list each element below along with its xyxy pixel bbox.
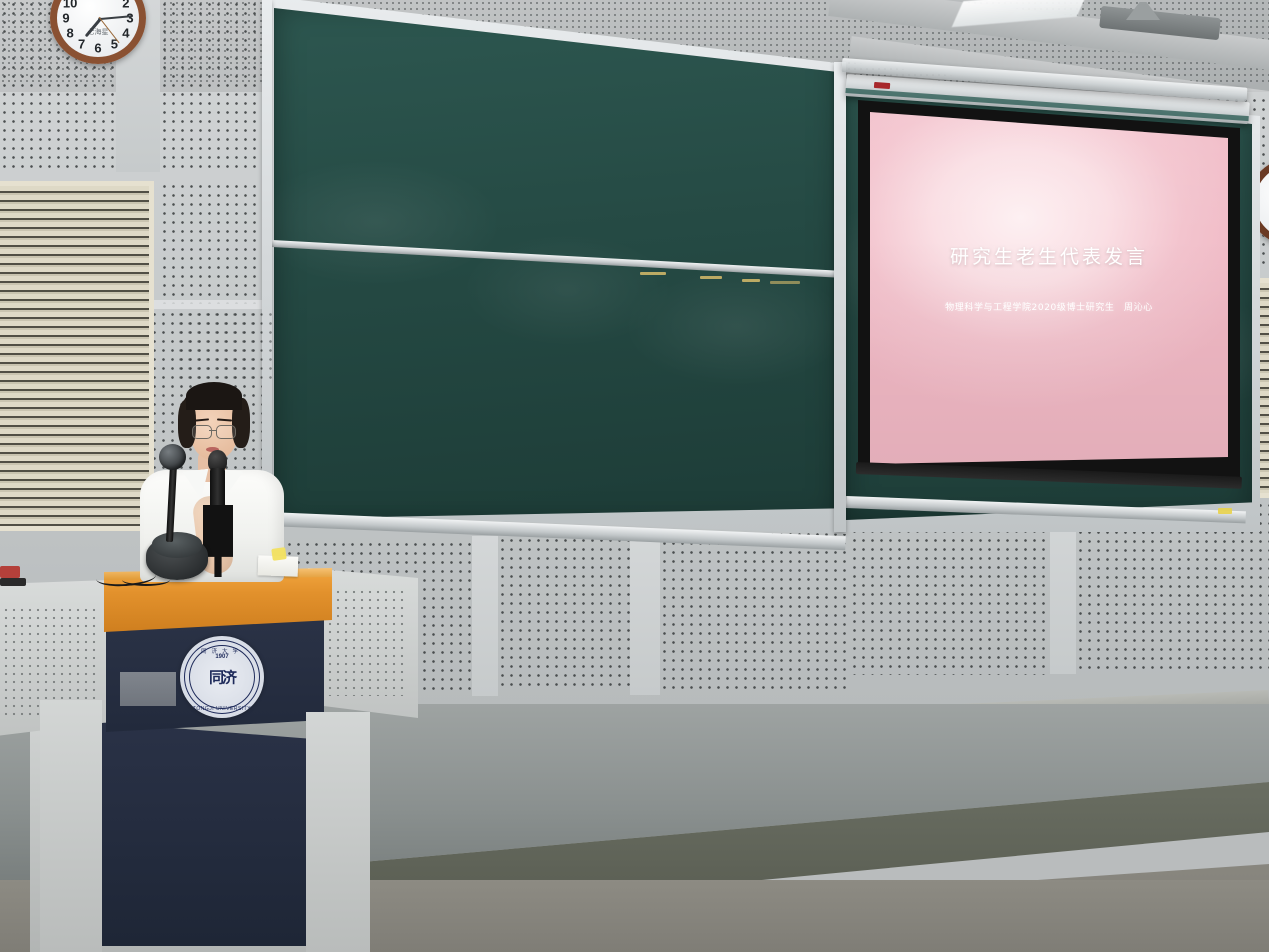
screen-vignette	[870, 112, 1228, 464]
podium-left-column	[40, 700, 102, 952]
speaker-hair-top	[186, 382, 242, 410]
speaker-glasses-left-lens	[192, 425, 212, 439]
podium-right-column	[306, 712, 370, 952]
conference-mic-base-top	[152, 532, 202, 558]
tongji-university-emblem: 同济大学 1907 同济 TONGJI UNIVERSITY	[180, 636, 264, 718]
cable-connector-black	[0, 578, 26, 586]
chalk-piece-b	[700, 276, 722, 279]
podium-equipment-box	[120, 672, 176, 706]
cable-connector-red	[0, 566, 20, 578]
wall-vent-left	[0, 181, 154, 531]
slide-title: 研究生老生代表发言	[870, 242, 1228, 269]
emblem-english-text: TONGJI UNIVERSITY	[193, 706, 251, 712]
wall-perf-lower-c	[660, 530, 850, 690]
speaker-glasses-bridge	[209, 430, 217, 431]
slide-subtitle: 物理科学与工程学院2020级博士研究生 周沁心	[870, 300, 1228, 313]
podium-sticky-note	[271, 547, 287, 561]
wall-blank-lower-b	[630, 533, 660, 695]
lecture-hall-photo: 12 1 2 3 4 5 6 7 8 9 10 11 七海星	[0, 0, 1269, 952]
sticky-marker-rail	[1218, 508, 1232, 514]
wall-vent-left-slats	[0, 186, 149, 526]
blackboard-surface-main	[274, 4, 838, 524]
wall-perf-behind-speaker	[176, 310, 272, 384]
blackboard-left-post	[262, 0, 272, 526]
chalk-piece-d	[770, 281, 800, 284]
wall-perf-left-b	[160, 0, 272, 172]
wall-blank-lower-a	[472, 536, 498, 696]
conference-mic-capsule	[159, 444, 186, 470]
emblem-chinese-monogram: 同济	[209, 667, 235, 688]
chalk-piece-c	[742, 279, 760, 282]
blackboard-right-post	[834, 62, 846, 532]
wall-perf-lower-b	[498, 536, 630, 691]
screen-brand-logo	[874, 82, 890, 89]
podium-lower-panel	[96, 718, 326, 946]
chalk-piece-a	[640, 272, 666, 275]
wall-perf-left-d	[160, 182, 272, 304]
emblem-founding-year: 1907	[215, 654, 228, 660]
speaker-glasses-right-lens	[216, 425, 236, 439]
podium-cable-2	[122, 574, 170, 586]
projection-screen-surface: 研究生老生代表发言 物理科学与工程学院2020级博士研究生 周沁心	[870, 112, 1228, 464]
